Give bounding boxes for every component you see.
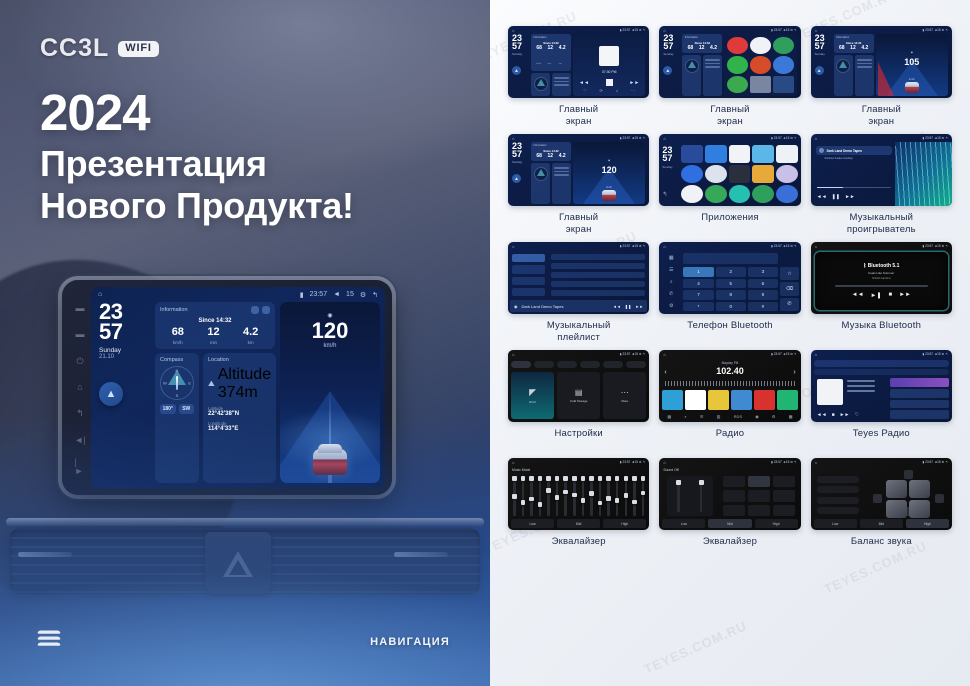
mini-information-card: Information Since 14:32 68 12 4.2: [531, 142, 571, 161]
gallery-item[interactable]: ⌂▮ 23:57 ◄15 ⚙ ↰ 23 57 Sunday ▲ Informat…: [811, 26, 952, 128]
balance-right-button[interactable]: [935, 494, 944, 503]
mini-information-card: Information Since 14:32 68km/h 12min 4.2…: [531, 34, 571, 71]
thumbnail-home-hud[interactable]: ⌂▮ 23:57 ◄15 ⚙ ↰ 23 57 Sunday ▲ Informat…: [508, 134, 649, 206]
thumbnail-caption: Музыкальныйплейлист: [547, 320, 611, 344]
mini-clock-day: Sunday: [512, 52, 529, 56]
mini-compass-card: [531, 73, 550, 96]
radio-presets[interactable]: [662, 390, 797, 410]
home-icon: ⌂: [815, 244, 817, 249]
bluetooth-stage: ᛒ Bluetooth 5.1 Feels Like Summer Childi…: [815, 252, 948, 310]
compass-n: N: [176, 368, 179, 373]
teyes-radio-tabs[interactable]: [814, 360, 949, 367]
storage-icon: ▤: [575, 388, 583, 397]
mini-location-card: [855, 55, 874, 96]
mountain-icon: ⛰: [208, 379, 215, 389]
mini-media-widget: 07:30 PM ◄◄►► ♡⟳♫⋯: [573, 34, 645, 96]
home-icon: ⌂: [663, 244, 665, 249]
apps-clock: 23 57 Sunday ↰: [662, 146, 678, 198]
thumbnail-bluetooth-phone[interactable]: ⌂▮ 23:57 ◄15 ⚙ ↰ ▦☰⌕✆⚙ 1 2 3 4 5 6 7 8 9…: [659, 242, 800, 314]
radio-toolbar[interactable]: ▦⌕☰▥RDS◉⚙▩: [662, 412, 797, 420]
thumbnail-caption: Приложения: [701, 212, 759, 236]
compass-e: E: [188, 381, 191, 386]
eq-slider[interactable]: [625, 476, 628, 516]
mini-info-title: Information: [534, 36, 569, 39]
stat-speed-value: 68: [172, 327, 184, 338]
status-bar: ⌂ ▮ 23:57 ◄ 15 ⚙ ↰: [91, 287, 385, 302]
back-icon[interactable]: ↰: [372, 291, 378, 299]
information-since: Since 14:32: [160, 318, 270, 324]
eq-slider[interactable]: [530, 476, 533, 516]
mini-clock: 23 57 Sunday ▲: [512, 142, 529, 204]
home-icon: ⌂: [815, 28, 817, 33]
screenshot-gallery-panel: TEYES.COM.RU TEYES.COM.RU TEYES.COM.RU T…: [490, 0, 970, 686]
radio-frequency: 102.40: [659, 366, 800, 376]
equalizer-tabs[interactable]: Low Mid High: [662, 519, 797, 528]
loc-icon[interactable]: ◉: [755, 414, 759, 419]
gallery-item[interactable]: ⌂▮ 23:57 ◄15 ⚙ ↰ Music Mode Low Mid High…: [508, 458, 649, 560]
mini-clock: 23 57 Sunday ▲: [663, 34, 680, 96]
next-icon[interactable]: ►►: [635, 304, 643, 309]
gallery-item[interactable]: ⌂▮ 23:57 ◄15 ⚙ ↰ 23 57 Sunday ▲ Informat…: [508, 26, 649, 128]
settings-icon[interactable]: ⚙: [772, 414, 776, 419]
teyes-radio-meta: [847, 380, 875, 395]
player-info: Dark Land Demo Tapes Rainbow Snakes Good…: [813, 143, 895, 204]
gallery-item[interactable]: ⌂▮ 23:57 ◄15 ⚙ ↰ 23 57 Sunday ▲ Informat…: [508, 134, 649, 236]
phone-actions[interactable]: ☆⌫✆: [780, 267, 798, 311]
compass-direction: SW: [179, 404, 195, 414]
mini-clock: 23 57 Sunday ▲: [512, 34, 529, 96]
prev-icon[interactable]: ◄◄: [817, 194, 827, 200]
bluetooth-icon: ᛒ: [863, 263, 866, 269]
phone-number-field[interactable]: [683, 253, 778, 264]
mini-compass-card: [531, 163, 550, 204]
thumbnail-caption: Главныйэкран: [862, 104, 901, 128]
radio-tuning-scale[interactable]: [665, 381, 794, 386]
footer-label: НАВИГАЦИЯ: [370, 636, 450, 648]
gallery-item[interactable]: ⌂▮ 23:57 ◄15 ⚙ ↰ 23 57 Sunday ▲ Informat…: [659, 26, 800, 128]
thumbnail-bluetooth-music[interactable]: ⌂▮ 23:57 ◄15 ⚙ ↰ ᛒ Bluetooth 5.1 Feels L…: [811, 242, 952, 314]
power-icon[interactable]: ⏻: [75, 356, 86, 367]
thumbnail-teyes-radio[interactable]: ⌂▮ 23:57 ◄15 ⚙ ↰ ◄◄■►►♡: [811, 350, 952, 422]
key-1[interactable]: 1: [683, 267, 713, 277]
preset-cell[interactable]: [773, 490, 795, 501]
key-4[interactable]: 4: [683, 279, 713, 289]
preset-cell[interactable]: [723, 505, 745, 516]
contacts-icon[interactable]: ☰: [669, 267, 673, 273]
balance-seat-grid[interactable]: [886, 480, 930, 518]
list-icon[interactable]: ☰: [700, 414, 704, 419]
thumbnail-caption: Баланс звука: [851, 536, 912, 560]
watermark: TEYES.COM.RU: [642, 618, 749, 677]
settings-card-more[interactable]: ⋯More: [603, 372, 646, 419]
gallery-item[interactable]: ⌂▮ 23:57 ◄15 ⚙ ↰ ᛒ Bluetooth 5.1 Feels L…: [811, 242, 952, 344]
thumbnail-caption: Главныйэкран: [710, 104, 749, 128]
bt-track-artist: Childish Gambino: [872, 277, 891, 280]
bt-track-title: Feels Like Summer: [868, 271, 894, 275]
car-graphic: [313, 449, 347, 475]
eq-slider[interactable]: [607, 476, 610, 516]
preset-cell[interactable]: [748, 505, 770, 516]
latitude-value: 22°42'38"N: [208, 411, 271, 417]
home-icon: ⌂: [815, 460, 817, 465]
equalizer-tabs[interactable]: Low Mid High: [511, 519, 646, 528]
prev-icon[interactable]: ◄◄: [852, 292, 864, 299]
gallery-item[interactable]: ⌂▮ 23:57 ◄15 ⚙ ↰ Mayday FM ‹ 102.40 › ▦⌕…: [659, 350, 800, 452]
altitude-value: 374m: [218, 384, 258, 401]
location-card[interactable]: Location ⛰ Altitude 374m: [203, 353, 276, 483]
eq-slider[interactable]: [547, 476, 550, 516]
thumbnail-caption: Эквалайзер: [703, 536, 757, 560]
layers-icon: [38, 630, 60, 648]
balance-front-button[interactable]: [904, 470, 913, 479]
key-star[interactable]: *: [683, 302, 713, 312]
hazard-triangle-icon: [223, 551, 253, 577]
compass-dial: N S W E: [160, 366, 194, 400]
album-art: [817, 379, 843, 405]
thumbnail-equalizer-presets[interactable]: ⌂▮ 23:57 ◄15 ⚙ ↰ Sound Off Low Mid High: [659, 458, 800, 530]
hud-panel[interactable]: ◉ 120 km/h: [280, 302, 380, 483]
now-playing-title: Dark Land Demo Tapes: [522, 304, 609, 309]
eq-slider[interactable]: [539, 476, 542, 516]
thumbnail-home-hud-red[interactable]: ⌂▮ 23:57 ◄15 ⚙ ↰ 23 57 Sunday ▲ Informat…: [811, 26, 952, 98]
logo-model: CC3L: [40, 34, 109, 63]
head-unit-device: ▬ ▬ ⏻ ⌂ ↰ ◄| |► ⌂ ▮ 23:57 ◄ 15: [62, 280, 392, 495]
preset-cell[interactable]: [748, 490, 770, 501]
headline-line-2: Нового Продукта!: [40, 185, 354, 227]
next-icon[interactable]: ►►: [840, 412, 850, 418]
next-track-icon[interactable]: |►: [75, 461, 86, 472]
mini-hud-widget: ◉120km/h: [573, 142, 645, 204]
home-icon: ⌂: [663, 460, 665, 465]
preset-cell[interactable]: [723, 490, 745, 501]
call-icon[interactable]: ✆: [780, 298, 798, 311]
preset-cell[interactable]: [723, 476, 745, 487]
mini-app-shortcuts: [724, 34, 796, 96]
volume-up-icon[interactable]: ▬: [75, 329, 86, 340]
information-card[interactable]: Information Since 14:32 68 km/h: [155, 302, 275, 349]
home-icon: ⌂: [512, 244, 514, 249]
eq-slider[interactable]: [582, 476, 585, 516]
compass-title: Compass: [160, 357, 194, 363]
refresh-icon[interactable]: [251, 306, 259, 314]
track-title: Dark Land Demo Tapes: [827, 149, 862, 153]
next-icon[interactable]: ►►: [899, 292, 911, 299]
bal-tab-high[interactable]: High: [906, 519, 949, 528]
favorite-icon[interactable]: ☆: [780, 267, 798, 280]
balance-tabs[interactable]: Low Mid High: [814, 519, 949, 528]
mini-information-card: Information Since 14:32 68 12 4.2: [834, 34, 874, 53]
widget-column: Information Since 14:32 68 km/h: [155, 302, 275, 483]
eq-tab-low[interactable]: Low: [662, 519, 705, 528]
thumbnail-caption: Главныйэкран: [559, 212, 598, 236]
eq-tab-low[interactable]: Low: [511, 519, 554, 528]
gallery-item[interactable]: ⌂▮ 23:57 ◄15 ⚙ ↰ 23 57 Sunday ↰ Приложен…: [659, 134, 800, 236]
stat-time-unit: min: [207, 340, 219, 345]
clock-day: Sunday: [99, 347, 150, 354]
eq-tab-high[interactable]: High: [755, 519, 798, 528]
home-button-icon[interactable]: ⌂: [75, 382, 86, 393]
clock-date: 21.10: [99, 354, 150, 360]
mini-hud-speed: 105: [876, 58, 948, 67]
album-art-icon: [819, 148, 824, 153]
audio-visualizer: [895, 142, 952, 206]
home-icon[interactable]: ⌂: [98, 291, 102, 298]
back-button-icon[interactable]: ↰: [75, 408, 86, 419]
thumbnail-caption: Музыка Bluetooth: [842, 320, 922, 344]
expand-icon[interactable]: [262, 306, 270, 314]
product-logo: CC3L WIFI: [40, 34, 159, 63]
gear-icon[interactable]: ⚙: [360, 291, 366, 299]
search-icon[interactable]: ⌕: [684, 414, 686, 419]
band-icon[interactable]: ▦: [667, 414, 671, 419]
hero-panel: CC3L WIFI 2024 Презентация Нового Продук…: [0, 0, 490, 686]
gallery-item[interactable]: ⌂▮ 23:57 ◄15 ⚙ ↰ ◤Wi-Fi ▤Cold Storage ⋯M…: [508, 350, 649, 452]
back-icon[interactable]: ↰: [662, 191, 678, 198]
progress-bar[interactable]: [817, 187, 891, 189]
altitude-label: Altitude: [218, 366, 271, 383]
hazard-button[interactable]: [205, 532, 271, 594]
bezel-button-strip[interactable]: ▬ ▬ ⏻ ⌂ ↰ ◄| |►: [69, 287, 91, 488]
mini-information-card: Information Since 14:32 68 12 4.2: [682, 34, 722, 53]
playlist-sidebar[interactable]: [510, 252, 547, 298]
longitude-value: 114°4'33"E: [208, 426, 271, 432]
navigation-arrow-icon[interactable]: ▲: [815, 66, 824, 75]
logo-wifi-badge: WIFI: [118, 41, 158, 57]
rds-icon[interactable]: RDS: [734, 414, 742, 419]
home-icon: ⌂: [663, 136, 665, 141]
thumbnail-sound-balance[interactable]: ⌂▮ 23:57 ◄15 ⚙ ↰ Low Mid High: [811, 458, 952, 530]
eq-slider[interactable]: [633, 476, 636, 516]
thumbnail-music-player[interactable]: ⌂▮ 23:57 ◄15 ⚙ ↰ Dark Land Demo Tapes Ra…: [811, 134, 952, 206]
navigation-arrow-icon[interactable]: ▲: [99, 382, 123, 406]
eq-slider[interactable]: [522, 476, 525, 516]
mini-compass-card: [834, 55, 853, 96]
compass-heading: 180°: [160, 404, 176, 414]
key-6[interactable]: 6: [748, 279, 778, 289]
home-icon: ⌂: [815, 136, 817, 141]
teyes-radio-filters[interactable]: [814, 369, 949, 375]
preset-cell[interactable]: [773, 505, 795, 516]
play-pause-icon[interactable]: ❚❚: [625, 304, 632, 309]
thumbnail-caption: Главныйэкран: [559, 104, 598, 128]
compass-location-row: Compass N S W E: [155, 353, 275, 483]
clock-minutes: 57: [99, 322, 150, 342]
headline-year: 2024: [40, 86, 354, 139]
eq-slider[interactable]: [556, 476, 559, 516]
key-3[interactable]: 3: [748, 267, 778, 277]
preset-cell[interactable]: [748, 476, 770, 487]
stop-icon[interactable]: ■: [832, 412, 835, 418]
gallery-item[interactable]: ⌂▮ 23:57 ◄15 ⚙ ↰ ◉ Dark Land Demo Tapes …: [508, 242, 649, 344]
balance-presets[interactable]: [817, 474, 859, 516]
radio-band-label: Mayday FM: [659, 361, 800, 365]
backspace-icon[interactable]: ⌫: [780, 282, 798, 295]
thumbnail-home-media[interactable]: ⌂▮ 23:57 ◄15 ⚙ ↰ 23 57 Sunday ▲ Informat…: [508, 26, 649, 98]
home-icon: ⌂: [663, 28, 665, 33]
eq-icon[interactable]: ▥: [717, 414, 721, 419]
gallery-item[interactable]: ⌂▮ 23:57 ◄15 ⚙ ↰ ▦☰⌕✆⚙ 1 2 3 4 5 6 7 8 9…: [659, 242, 800, 344]
settings-tabs[interactable]: [511, 361, 646, 368]
eq-preset-label: Music Mode: [512, 468, 530, 472]
navigation-arrow-icon[interactable]: ▲: [663, 66, 672, 75]
prev-icon[interactable]: ◄◄: [613, 304, 621, 309]
presentation-slide: CC3L WIFI 2024 Презентация Нового Продук…: [0, 0, 970, 686]
progress-bar[interactable]: [835, 285, 928, 286]
key-8[interactable]: 8: [716, 290, 746, 300]
thumbnail-radio[interactable]: ⌂▮ 23:57 ◄15 ⚙ ↰ Mayday FM ‹ 102.40 › ▦⌕…: [659, 350, 800, 422]
stat-distance-value: 4.2: [243, 327, 258, 338]
thumbnail-caption: Настройки: [554, 428, 602, 452]
car-interior-photo: ▬ ▬ ⏻ ⌂ ↰ ◄| |► ⌂ ▮ 23:57 ◄ 15: [0, 240, 490, 686]
gallery-item[interactable]: ⌂▮ 23:57 ◄15 ⚙ ↰ Sound Off Low Mid High …: [659, 458, 800, 560]
key-5[interactable]: 5: [716, 279, 746, 289]
prev-track-icon[interactable]: ◄|: [75, 435, 86, 446]
play-pause-icon[interactable]: ►❚: [871, 292, 882, 299]
hud-speed-value: 120: [280, 320, 380, 342]
playlist-player-bar[interactable]: ◉ Dark Land Demo Tapes ◄◄❚❚►►: [510, 300, 647, 312]
wifi-icon: ▮: [300, 291, 304, 299]
search-icon[interactable]: ⌕: [670, 279, 673, 285]
eq-tab-high[interactable]: High: [603, 519, 646, 528]
stat-distance-unit: km: [243, 340, 258, 345]
key-hash[interactable]: #: [748, 302, 778, 312]
home-icon: ⌂: [815, 352, 817, 357]
information-title: Information: [160, 307, 188, 313]
phone-sidebar[interactable]: ▦☰⌕✆⚙: [661, 252, 681, 312]
settings-card-storage[interactable]: ▤Cold Storage: [557, 372, 600, 419]
vent-slit-left: [18, 552, 72, 557]
eq-slider[interactable]: [599, 476, 602, 516]
eq-slider[interactable]: [616, 476, 619, 516]
dialpad-icon[interactable]: ▦: [669, 255, 674, 261]
thumbnail-caption: Teyes Радио: [853, 428, 910, 452]
gallery-item[interactable]: ⌂▮ 23:57 ◄15 ⚙ ↰ Dark Land Demo Tapes Ra…: [811, 134, 952, 236]
mini-stat: 68km/h: [536, 46, 542, 69]
hud-speed-unit: km/h: [280, 343, 380, 349]
stop-icon[interactable]: ■: [888, 292, 892, 299]
mini-location-card: [703, 55, 722, 96]
status-time: 23:57: [310, 291, 328, 298]
key-2[interactable]: 2: [716, 267, 746, 277]
balance-left-button[interactable]: [873, 494, 882, 503]
thumbnail-home-apps[interactable]: ⌂▮ 23:57 ◄15 ⚙ ↰ 23 57 Sunday ▲ Informat…: [659, 26, 800, 98]
clock-widget: 23 57 Sunday 21.10 ▲: [96, 302, 150, 483]
mini-hud-speed: 120: [573, 166, 645, 175]
bal-tab-mid[interactable]: Mid: [860, 519, 903, 528]
thumbnail-caption: Эквалайзер: [552, 536, 606, 560]
head-unit-screen[interactable]: ⌂ ▮ 23:57 ◄ 15 ⚙ ↰ 23 57 Sunday: [91, 287, 385, 488]
settings-icon[interactable]: ⚙: [669, 303, 673, 309]
eq-preset-label: Sound Off: [663, 468, 678, 472]
call-log-icon[interactable]: ✆: [669, 291, 673, 297]
key-9[interactable]: 9: [748, 290, 778, 300]
navigation-arrow-icon[interactable]: ▲: [512, 174, 521, 183]
eq-slider[interactable]: [513, 476, 516, 516]
thumbnail-caption: Радио: [716, 428, 744, 452]
next-icon[interactable]: ►►: [845, 194, 855, 200]
key-0[interactable]: 0: [716, 302, 746, 312]
eq-tab-mid[interactable]: Mid: [557, 519, 600, 528]
compass-needle-icon: [176, 376, 178, 390]
mini-stat: 12min: [548, 46, 554, 69]
home-screen-body: 23 57 Sunday 21.10 ▲ Information: [91, 302, 385, 488]
thumbnail-grid: ⌂▮ 23:57 ◄15 ⚙ ↰ 23 57 Sunday ▲ Informat…: [508, 26, 952, 560]
equalizer-sliders[interactable]: [513, 476, 644, 516]
eq-slider[interactable]: [573, 476, 576, 516]
prev-icon[interactable]: ◄◄: [817, 412, 827, 418]
stat-distance: 4.2 km: [243, 327, 258, 345]
hero-headline: 2024 Презентация Нового Продукта!: [40, 86, 354, 227]
gallery-item[interactable]: ⌂▮ 23:57 ◄15 ⚙ ↰ ◄◄■►►♡ Teyes Радио: [811, 350, 952, 452]
eq-tab-mid[interactable]: Mid: [708, 519, 751, 528]
mini-stat: 4.2km: [559, 46, 566, 69]
gallery-item[interactable]: ⌂▮ 23:57 ◄15 ⚙ ↰ Low Mid High Баланс зву…: [811, 458, 952, 560]
headline-line-1: Презентация: [40, 143, 354, 185]
status-volume: 15: [346, 291, 354, 298]
home-icon: ⌂: [512, 28, 514, 33]
key-7[interactable]: 7: [683, 290, 713, 300]
vent-chrome-trim: [6, 518, 484, 526]
compass-w: W: [163, 381, 167, 386]
thumbnail-equalizer-bands[interactable]: ⌂▮ 23:57 ◄15 ⚙ ↰ Music Mode Low Mid High: [508, 458, 649, 530]
eq-slider[interactable]: [564, 476, 567, 516]
mini-clock-m: 57: [512, 42, 529, 50]
album-art-icon: ◉: [514, 304, 518, 309]
apps-icon[interactable]: ▩: [789, 414, 793, 419]
home-icon: ⌂: [512, 460, 514, 465]
compass-card[interactable]: Compass N S W E: [155, 353, 199, 483]
thumbnail-apps[interactable]: ⌂▮ 23:57 ◄15 ⚙ ↰ 23 57 Sunday ↰: [659, 134, 800, 206]
wifi-icon: ◤: [529, 387, 536, 398]
eq-slider[interactable]: [642, 476, 645, 516]
vent-slit-right: [394, 552, 448, 557]
thumbnail-playlist[interactable]: ⌂▮ 23:57 ◄15 ⚙ ↰ ◉ Dark Land Demo Tapes …: [508, 242, 649, 314]
eq-slider[interactable]: [590, 476, 593, 516]
thumbnail-settings[interactable]: ⌂▮ 23:57 ◄15 ⚙ ↰ ◤Wi-Fi ▤Cold Storage ⋯M…: [508, 350, 649, 422]
settings-card-wifi[interactable]: ◤Wi-Fi: [511, 372, 554, 419]
equalizer-dual-sliders[interactable]: [667, 476, 712, 516]
bal-tab-low[interactable]: Low: [814, 519, 857, 528]
mini-clock: 23 57 Sunday ▲: [815, 34, 832, 96]
volume-icon: ◄: [333, 291, 340, 298]
play-pause-icon[interactable]: ❚❚: [832, 194, 840, 200]
volume-down-icon[interactable]: ▬: [75, 303, 86, 314]
more-icon: ⋯: [621, 388, 629, 397]
compass-s: S: [176, 393, 179, 398]
location-title: Location: [208, 357, 271, 363]
track-artist: Rainbow Snakes Goodbye: [816, 157, 892, 160]
mini-location-card: [552, 73, 571, 96]
equalizer-preset-grid[interactable]: [723, 476, 795, 516]
mini-location-card: [552, 163, 571, 204]
dialpad-grid[interactable]: 1 2 3 4 5 6 7 8 9 * 0 #: [683, 267, 778, 311]
stat-time-value: 12: [207, 327, 219, 338]
settings-cards[interactable]: ◤Wi-Fi ▤Cold Storage ⋯More: [511, 372, 646, 419]
home-icon: ⌂: [512, 136, 514, 141]
app-grid[interactable]: [681, 145, 797, 203]
favorite-icon[interactable]: ♡: [855, 412, 859, 418]
playlist-tracks[interactable]: [549, 252, 647, 298]
next-station-icon[interactable]: ›: [793, 369, 795, 376]
thumbnail-caption: Телефон Bluetooth: [687, 320, 773, 344]
teyes-station-list[interactable]: [890, 378, 949, 419]
speedometer-icon: ◉: [911, 51, 913, 54]
bluetooth-version: ᛒ Bluetooth 5.1: [863, 263, 899, 269]
navigation-arrow-icon[interactable]: ▲: [512, 66, 521, 75]
preset-cell[interactable]: [773, 476, 795, 487]
thumbnail-caption: Музыкальныйпроигрыватель: [847, 212, 916, 236]
mini-hud-widget: ◉105km/h: [876, 34, 948, 96]
